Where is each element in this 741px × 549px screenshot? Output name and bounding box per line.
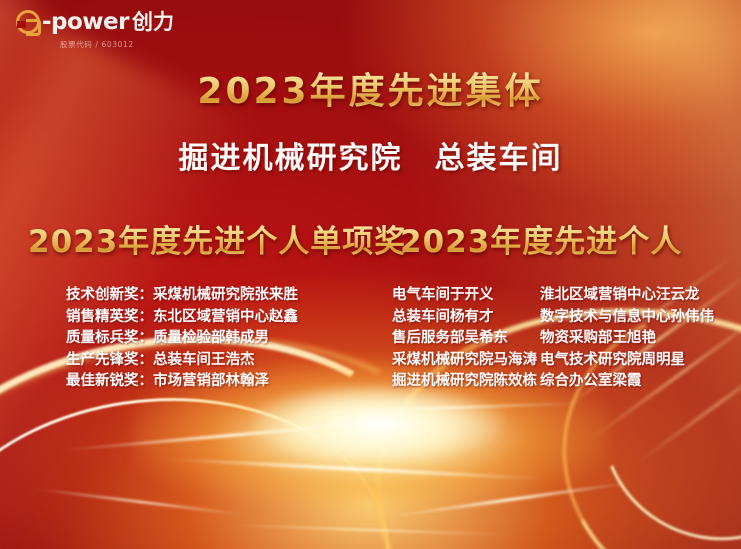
individual-name-left: 掘进机械研究院陈效栋 (392, 371, 540, 393)
individual-award-list: 电气车间于开义淮北区域营销中心汪云龙 总装车间杨有才数字技术与信息中心孙伟伟 售… (392, 285, 714, 393)
award-recipient: 采煤机械研究院张来胜 (153, 285, 298, 307)
section-heading-single-awards-text: 2023年度先进个人单项奖 (28, 224, 406, 260)
individual-name-left: 电气车间于开义 (392, 285, 540, 307)
individual-name-right: 综合办公室梁霞 (540, 371, 642, 393)
award-name: 销售精英奖： (66, 307, 153, 329)
award-name: 质量标兵奖： (66, 328, 153, 350)
award-recipient: 总装车间王浩杰 (153, 350, 255, 372)
individual-name-left: 售后服务部吴希东 (392, 328, 540, 350)
logo-text-cn: 创力 (132, 12, 174, 33)
list-item: 采煤机械研究院马海涛电气技术研究院周明星 (392, 350, 714, 372)
award-name: 技术创新奖： (66, 285, 153, 307)
collective-winners: 掘进机械研究院 总装车间 (0, 133, 741, 177)
section-heading-single-awards: 2023年度先进个人单项奖 (28, 216, 406, 261)
list-item: 电气车间于开义淮北区域营销中心汪云龙 (392, 285, 714, 307)
list-item: 技术创新奖：采煤机械研究院张来胜 (66, 285, 298, 307)
stock-code-label: 股票代码 / 603012 (60, 39, 174, 50)
award-recipient: 市场营销部林翰泽 (153, 371, 269, 393)
award-name: 最佳新锐奖： (66, 371, 153, 393)
award-recipient: 质量检验部韩成男 (153, 328, 269, 350)
list-item: 总装车间杨有才数字技术与信息中心孙伟伟 (392, 307, 714, 329)
logo-text-en: -power (42, 11, 129, 34)
list-item: 质量标兵奖：质量检验部韩成男 (66, 328, 298, 350)
list-item: 掘进机械研究院陈效栋综合办公室梁霞 (392, 371, 714, 393)
list-item: 生产先锋奖：总装车间王浩杰 (66, 350, 298, 372)
company-logo: -power 创力 股票代码 / 603012 (16, 10, 174, 50)
c-power-circle-icon (16, 10, 40, 34)
individual-name-right: 数字技术与信息中心孙伟伟 (540, 307, 714, 329)
list-item: 销售精英奖：东北区域营销中心赵鑫 (66, 307, 298, 329)
section-heading-individuals-text: 2023年度先进个人 (400, 224, 682, 260)
page-title: 2023年度先进集体 (0, 62, 741, 114)
individual-name-right: 电气技术研究院周明星 (540, 350, 685, 372)
list-item: 最佳新锐奖：市场营销部林翰泽 (66, 371, 298, 393)
list-item: 售后服务部吴希东物资采购部王旭艳 (392, 328, 714, 350)
single-award-list: 技术创新奖：采煤机械研究院张来胜 销售精英奖：东北区域营销中心赵鑫 质量标兵奖：… (66, 285, 298, 393)
individual-name-left: 总装车间杨有才 (392, 307, 540, 329)
award-recipient: 东北区域营销中心赵鑫 (153, 307, 298, 329)
individual-name-left: 采煤机械研究院马海涛 (392, 350, 540, 372)
page-title-text: 2023年度先进集体 (197, 71, 543, 112)
award-name: 生产先锋奖： (66, 350, 153, 372)
individual-name-right: 物资采购部王旭艳 (540, 328, 656, 350)
individual-name-right: 淮北区域营销中心汪云龙 (540, 285, 700, 307)
section-heading-individuals: 2023年度先进个人 (400, 216, 682, 261)
